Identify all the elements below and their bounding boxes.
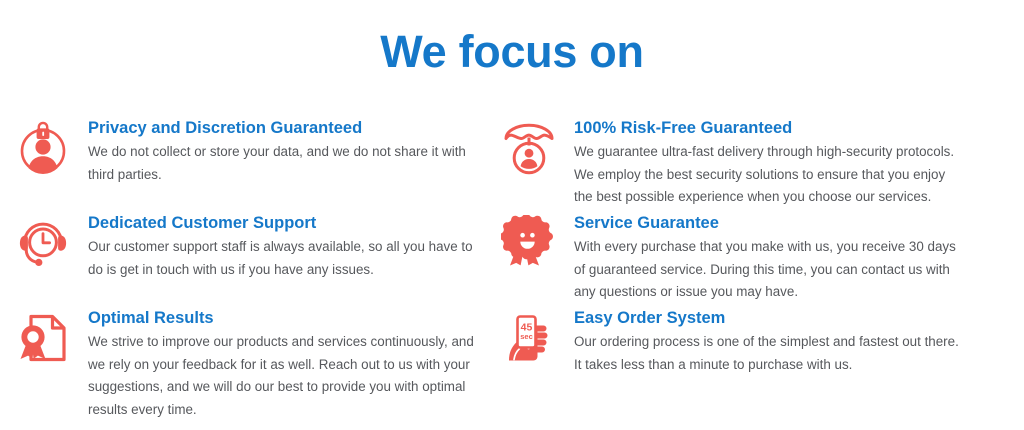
smiley-badge-icon bbox=[500, 213, 558, 271]
features-grid: Privacy and Discretion Guaranteed We do … bbox=[0, 118, 1024, 430]
feature-description: Our customer support staff is always ava… bbox=[88, 236, 480, 281]
document-award-icon bbox=[14, 308, 72, 366]
page-root: We focus on Privacy and Discretion Guara… bbox=[0, 0, 1024, 430]
feature-title: Privacy and Discretion Guaranteed bbox=[88, 118, 500, 139]
feature-item-easy-order: 45 sec Easy Order System Our ordering pr… bbox=[500, 308, 1000, 376]
feature-title: Dedicated Customer Support bbox=[88, 213, 500, 234]
user-lock-icon bbox=[14, 118, 72, 176]
feature-item-privacy: Privacy and Discretion Guaranteed We do … bbox=[14, 118, 500, 186]
feature-body: Dedicated Customer Support Our customer … bbox=[88, 213, 500, 281]
feature-description: We do not collect or store your data, an… bbox=[88, 141, 480, 186]
feature-title: Service Guarantee bbox=[574, 213, 1000, 234]
feature-title: Easy Order System bbox=[574, 308, 1000, 329]
feature-title: 100% Risk-Free Guaranteed bbox=[574, 118, 1000, 139]
feature-body: Optimal Results We strive to improve our… bbox=[88, 308, 500, 421]
feature-description: Our ordering process is one of the simpl… bbox=[574, 331, 966, 376]
feature-item-service-guarantee: Service Guarantee With every purchase th… bbox=[500, 213, 1000, 304]
feature-body: Easy Order System Our ordering process i… bbox=[574, 308, 1000, 376]
feature-item-support: Dedicated Customer Support Our customer … bbox=[14, 213, 500, 281]
feature-body: 100% Risk-Free Guaranteed We guarantee u… bbox=[574, 118, 1000, 209]
feature-title: Optimal Results bbox=[88, 308, 500, 329]
umbrella-person-icon bbox=[500, 118, 558, 176]
phone-seconds-unit: sec bbox=[520, 332, 533, 341]
feature-item-risk-free: 100% Risk-Free Guaranteed We guarantee u… bbox=[500, 118, 1000, 209]
page-title: We focus on bbox=[0, 24, 1024, 80]
feature-description: We strive to improve our products and se… bbox=[88, 331, 480, 421]
feature-item-results: Optimal Results We strive to improve our… bbox=[14, 308, 500, 421]
feature-body: Service Guarantee With every purchase th… bbox=[574, 213, 1000, 304]
hand-phone-45sec-icon: 45 sec bbox=[500, 308, 558, 366]
clock-headset-icon bbox=[14, 213, 72, 271]
feature-description: We guarantee ultra-fast delivery through… bbox=[574, 141, 966, 209]
feature-description: With every purchase that you make with u… bbox=[574, 236, 966, 304]
feature-body: Privacy and Discretion Guaranteed We do … bbox=[88, 118, 500, 186]
